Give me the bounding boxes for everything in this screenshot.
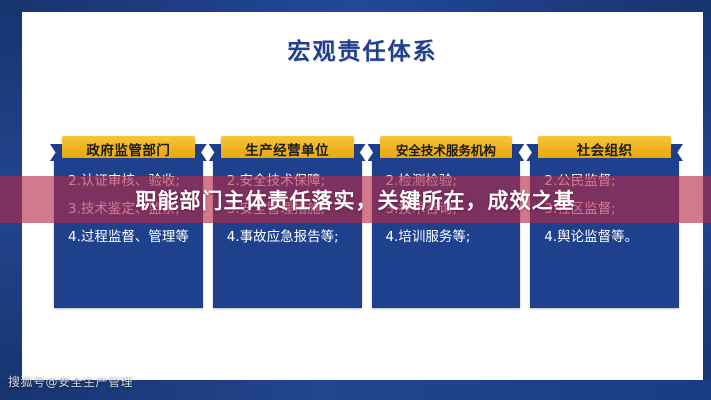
columns-container: 政府监管部门 2.认证审核、验收; 3.技术鉴定、监察; 4.过程监督、管理等 … — [54, 125, 679, 325]
caption-text: 职能部门主体责任落实，关键所在，成效之基 — [0, 176, 711, 223]
column-production-unit: 生产经营单位 2.安全技术保障; 3.安全管理措施; 4.事故应急报告等; — [213, 125, 362, 325]
frame-top-bar — [0, 0, 711, 12]
column-government: 政府监管部门 2.认证审核、验收; 3.技术鉴定、监察; 4.过程监督、管理等 — [54, 125, 203, 325]
list-item: 4.过程监督、管理等 — [54, 223, 203, 251]
list-item: 4.事故应急报告等; — [213, 223, 362, 251]
list-item: 4.舆论监督等。 — [530, 223, 679, 251]
column-safety-service-org: 安全技术服务机构 2.检测检验; 3.技术咨询; 4.培训服务等; — [372, 125, 521, 325]
page-title: 宏观责任体系 — [22, 32, 703, 66]
column-social-organization: 社会组织 2.公民监督; 3.社区监督; 4.舆论监督等。 — [530, 125, 679, 325]
list-item: 4.培训服务等; — [372, 223, 521, 251]
watermark: 搜狐号@安全生产管理 — [8, 373, 133, 390]
slide-stage: 宏观责任体系 政府监管部门 2.认证审核、验收; 3.技术鉴定、监察; 4.过程… — [0, 0, 711, 400]
